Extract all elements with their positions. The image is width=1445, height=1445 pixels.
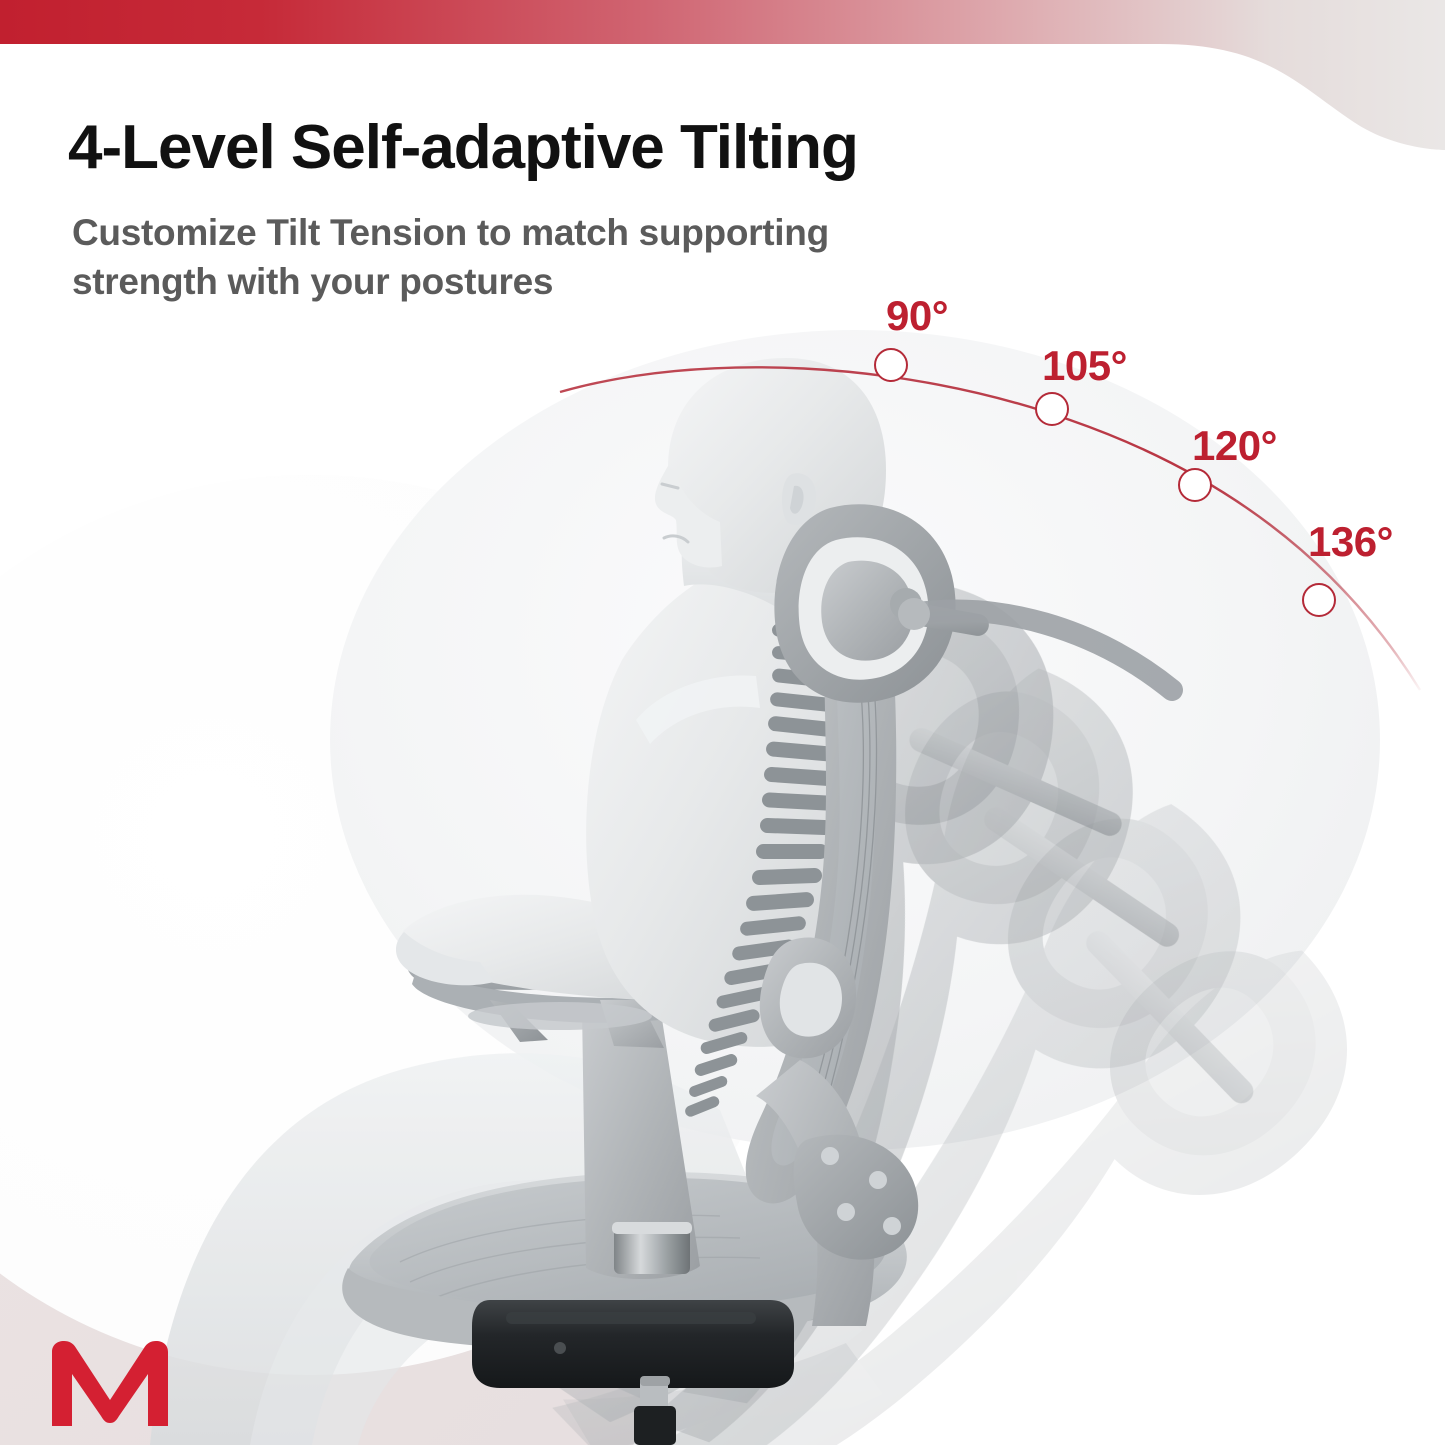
angle-label-136: 136° <box>1308 518 1393 566</box>
angle-marker-105 <box>1035 392 1069 426</box>
angle-marker-120 <box>1178 468 1212 502</box>
tilt-mechanism-housing <box>472 1300 794 1388</box>
chair-illustration <box>0 0 1445 1445</box>
angle-label-105: 105° <box>1042 342 1127 390</box>
promo-graphic: 4-Level Self-adaptive Tilting Customize … <box>0 0 1445 1445</box>
angle-marker-136 <box>1302 583 1336 617</box>
angle-marker-90 <box>874 348 908 382</box>
angle-label-120: 120° <box>1192 422 1277 470</box>
brand-logo-m <box>44 1338 176 1430</box>
angle-label-90: 90° <box>886 292 948 340</box>
